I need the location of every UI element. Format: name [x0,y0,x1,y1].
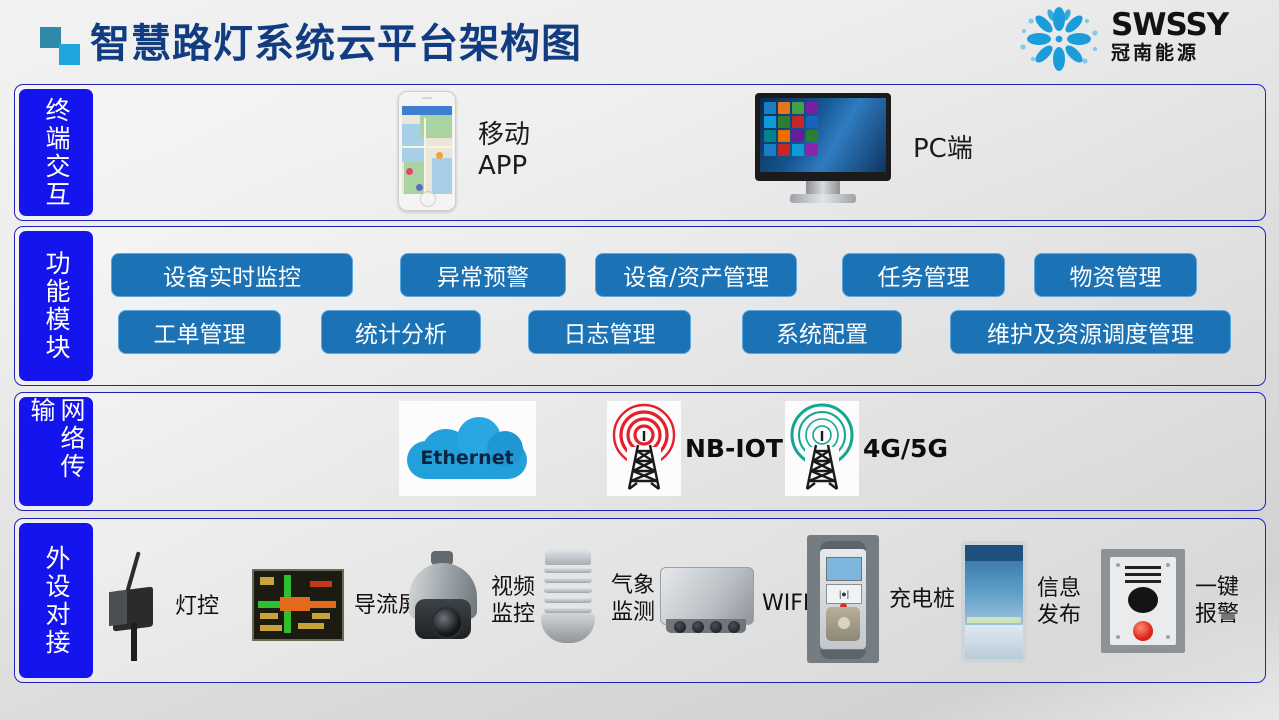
layer-panel-function: 功能模块 设备实时监控 异常预警 设备/资产管理 任务管理 物资管理 工单管理 … [14,226,1266,386]
terminal-item-label: PC端 [913,134,973,165]
layer-tab-function[interactable]: 功能模块 [19,231,93,381]
cloud-icon: Ethernet [399,401,536,496]
peripheral-item-info-display[interactable]: 信息 发布 [961,541,1081,663]
peripheral-item-charging-pile[interactable]: |●| 充电桩 [807,535,955,663]
function-button-asset-management[interactable]: 设备/资产管理 [595,253,797,297]
network-item-nbiot[interactable]: NB-IOT [607,401,783,496]
title-decoration-icon [40,27,86,65]
peripheral-item-wifi[interactable]: WIFI [660,567,809,639]
layer-tab-label: 功能模块 [41,250,71,362]
peripheral-item-label: 一键 报警 [1195,574,1239,628]
function-button-device-monitor[interactable]: 设备实时监控 [111,253,353,297]
function-button-system-config[interactable]: 系统配置 [742,310,902,354]
peripheral-item-weather-station[interactable]: 气象 监测 [535,547,655,651]
peripheral-item-label: 充电桩 [889,586,955,613]
network-item-ethernet[interactable]: Ethernet [399,401,536,496]
smartphone-map-icon [398,91,456,211]
peripheral-item-label: WIFI [762,590,809,617]
peripheral-item-emergency-alarm[interactable]: 一键 报警 [1101,549,1239,653]
function-button-log-management[interactable]: 日志管理 [528,310,691,354]
page-header: 智慧路灯系统云平台架构图 [0,0,1279,78]
wifi-box-icon [660,567,752,639]
peripheral-item-guidance-screen[interactable]: 导流屏 [252,569,420,641]
layer-tab-network[interactable]: 网络传输 [19,397,93,506]
layer-tab-label: 外设对接 [41,545,71,657]
lamp-controller-icon [105,551,165,661]
decoration-square-dark [40,27,61,48]
decoration-square-light [59,44,80,65]
peripheral-item-video-surveillance[interactable]: 视频 监控 [405,551,535,651]
company-logo: SWSSY 冠南能源 [1011,5,1261,73]
page-title: 智慧路灯系统云平台架构图 [90,11,582,69]
peripheral-item-lamp-controller[interactable]: 灯控 [105,551,219,661]
layer-panel-terminal: 终端交互 移动 APP [14,84,1266,221]
droplet-burst-icon [1011,7,1107,71]
peripheral-item-label: 信息 发布 [1037,575,1081,629]
network-item-label: Ethernet [407,447,527,469]
network-item-label: 4G/5G [863,434,948,463]
logo-wordmark: SWSSY 冠南能源 [1111,9,1261,65]
charging-pile-icon: |●| [807,535,879,663]
signal-tower-icon [785,401,859,496]
terminal-item-mobile-app[interactable]: 移动 APP [398,91,530,211]
weather-station-icon [535,547,601,651]
peripheral-item-label: 灯控 [175,593,219,620]
function-button-material-management[interactable]: 物资管理 [1034,253,1197,297]
layer-tab-peripheral[interactable]: 外设对接 [19,523,93,678]
layer-tab-terminal[interactable]: 终端交互 [19,89,93,216]
network-item-4g5g[interactable]: 4G/5G [785,401,948,496]
layer-tab-label: 终端交互 [41,97,71,209]
function-button-anomaly-alert[interactable]: 异常预警 [400,253,566,297]
peripheral-item-label: 气象 监测 [611,572,655,626]
guidance-screen-icon [252,569,344,641]
emergency-alarm-icon [1101,549,1185,653]
ptz-camera-icon [405,551,481,651]
desktop-monitor-icon [755,93,891,205]
peripheral-item-label: 视频 监控 [491,574,535,628]
function-button-work-order[interactable]: 工单管理 [118,310,281,354]
logo-chinese-name: 冠南能源 [1111,41,1261,65]
terminal-item-label: 移动 APP [478,120,530,182]
layer-tab-label: 网络传输 [26,397,86,506]
layer-panel-network: 网络传输 Ethernet [14,392,1266,511]
function-button-statistics[interactable]: 统计分析 [321,310,481,354]
function-button-task-management[interactable]: 任务管理 [842,253,1005,297]
network-item-label: NB-IOT [685,434,783,463]
logo-english-name: SWSSY [1111,9,1261,41]
function-button-maintenance-dispatch[interactable]: 维护及资源调度管理 [950,310,1231,354]
layer-panel-peripheral: 外设对接 灯控 导流屏 视频 监控 [14,518,1266,683]
signal-tower-icon [607,401,681,496]
terminal-item-pc[interactable]: PC端 [755,93,973,205]
info-display-icon [961,541,1027,663]
